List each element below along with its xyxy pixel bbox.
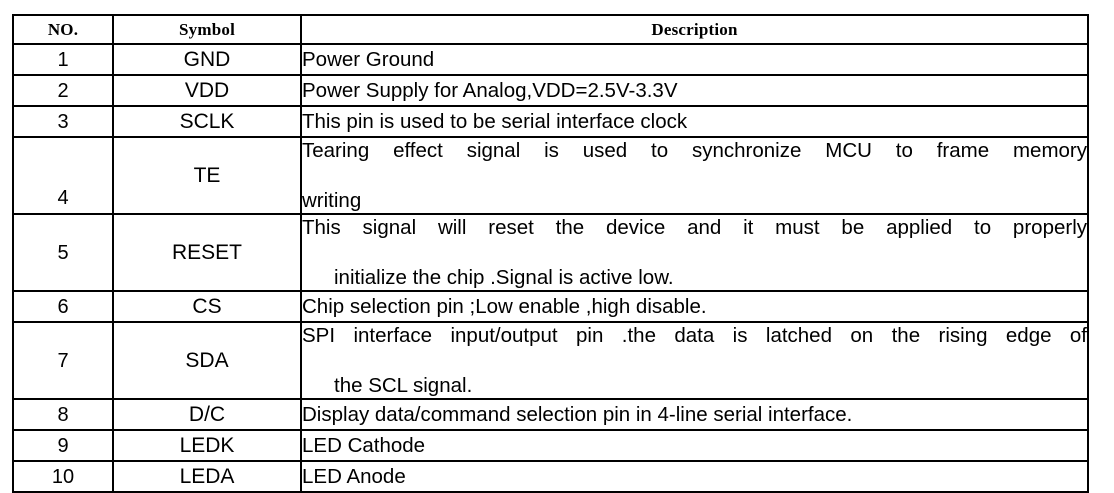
- table-row: 7SDASPI interface input/output pin .the …: [13, 322, 1088, 399]
- cell-description: Tearing effect signal is used to synchro…: [301, 137, 1088, 214]
- cell-symbol: SDA: [113, 322, 301, 399]
- cell-symbol: SCLK: [113, 106, 301, 137]
- table-row: 9LEDKLED Cathode: [13, 430, 1088, 461]
- cell-no: 5: [13, 214, 113, 291]
- description-line: Display data/command selection pin in 4-…: [302, 402, 1087, 427]
- cell-no: 6: [13, 291, 113, 322]
- cell-symbol: VDD: [113, 75, 301, 106]
- cell-no: 10: [13, 461, 113, 492]
- description-line: SPI interface input/output pin .the data…: [302, 323, 1087, 373]
- table-row: 6CSChip selection pin ;Low enable ,high …: [13, 291, 1088, 322]
- cell-no: 4: [13, 137, 113, 214]
- table-row: 3SCLKThis pin is used to be serial inter…: [13, 106, 1088, 137]
- description-line: the SCL signal.: [302, 373, 1087, 398]
- table-row: 2VDDPower Supply for Analog,VDD=2.5V-3.3…: [13, 75, 1088, 106]
- cell-description: Power Ground: [301, 44, 1088, 75]
- pin-description-table-container: NO. Symbol Description 1GNDPower Ground2…: [12, 14, 1087, 493]
- table-row: 5RESETThis signal will reset the device …: [13, 214, 1088, 291]
- description-line: writing: [302, 188, 1087, 213]
- pin-description-table: NO. Symbol Description 1GNDPower Ground2…: [12, 14, 1089, 493]
- cell-description: SPI interface input/output pin .the data…: [301, 322, 1088, 399]
- table-row: 4TETearing effect signal is used to sync…: [13, 137, 1088, 214]
- description-line: Power Supply for Analog,VDD=2.5V-3.3V: [302, 78, 1087, 103]
- description-line: Power Ground: [302, 47, 1087, 72]
- cell-description: Power Supply for Analog,VDD=2.5V-3.3V: [301, 75, 1088, 106]
- cell-symbol: LEDK: [113, 430, 301, 461]
- description-line: This signal will reset the device and it…: [302, 215, 1087, 265]
- description-line: Chip selection pin ;Low enable ,high dis…: [302, 294, 1087, 319]
- table-header-row: NO. Symbol Description: [13, 15, 1088, 44]
- cell-symbol: GND: [113, 44, 301, 75]
- cell-description: LED Cathode: [301, 430, 1088, 461]
- cell-description: This signal will reset the device and it…: [301, 214, 1088, 291]
- cell-symbol: CS: [113, 291, 301, 322]
- description-line: Tearing effect signal is used to synchro…: [302, 138, 1087, 188]
- table-row: 10LEDALED Anode: [13, 461, 1088, 492]
- table-row: 8D/CDisplay data/command selection pin i…: [13, 399, 1088, 430]
- description-line: LED Anode: [302, 464, 1087, 489]
- cell-description: Chip selection pin ;Low enable ,high dis…: [301, 291, 1088, 322]
- cell-no: 1: [13, 44, 113, 75]
- column-header-no: NO.: [13, 15, 113, 44]
- cell-no: 8: [13, 399, 113, 430]
- table-body: 1GNDPower Ground2VDDPower Supply for Ana…: [13, 44, 1088, 492]
- cell-description: Display data/command selection pin in 4-…: [301, 399, 1088, 430]
- cell-no: 3: [13, 106, 113, 137]
- description-line: LED Cathode: [302, 433, 1087, 458]
- column-header-symbol: Symbol: [113, 15, 301, 44]
- table-header: NO. Symbol Description: [13, 15, 1088, 44]
- description-line: This pin is used to be serial interface …: [302, 109, 1087, 134]
- cell-symbol: LEDA: [113, 461, 301, 492]
- cell-description: This pin is used to be serial interface …: [301, 106, 1088, 137]
- cell-no: 9: [13, 430, 113, 461]
- cell-no: 7: [13, 322, 113, 399]
- cell-description: LED Anode: [301, 461, 1088, 492]
- cell-symbol: D/C: [113, 399, 301, 430]
- cell-symbol: RESET: [113, 214, 301, 291]
- column-header-description: Description: [301, 15, 1088, 44]
- cell-no: 2: [13, 75, 113, 106]
- description-line: initialize the chip .Signal is active lo…: [302, 265, 1087, 290]
- cell-symbol: TE: [113, 137, 301, 214]
- table-row: 1GNDPower Ground: [13, 44, 1088, 75]
